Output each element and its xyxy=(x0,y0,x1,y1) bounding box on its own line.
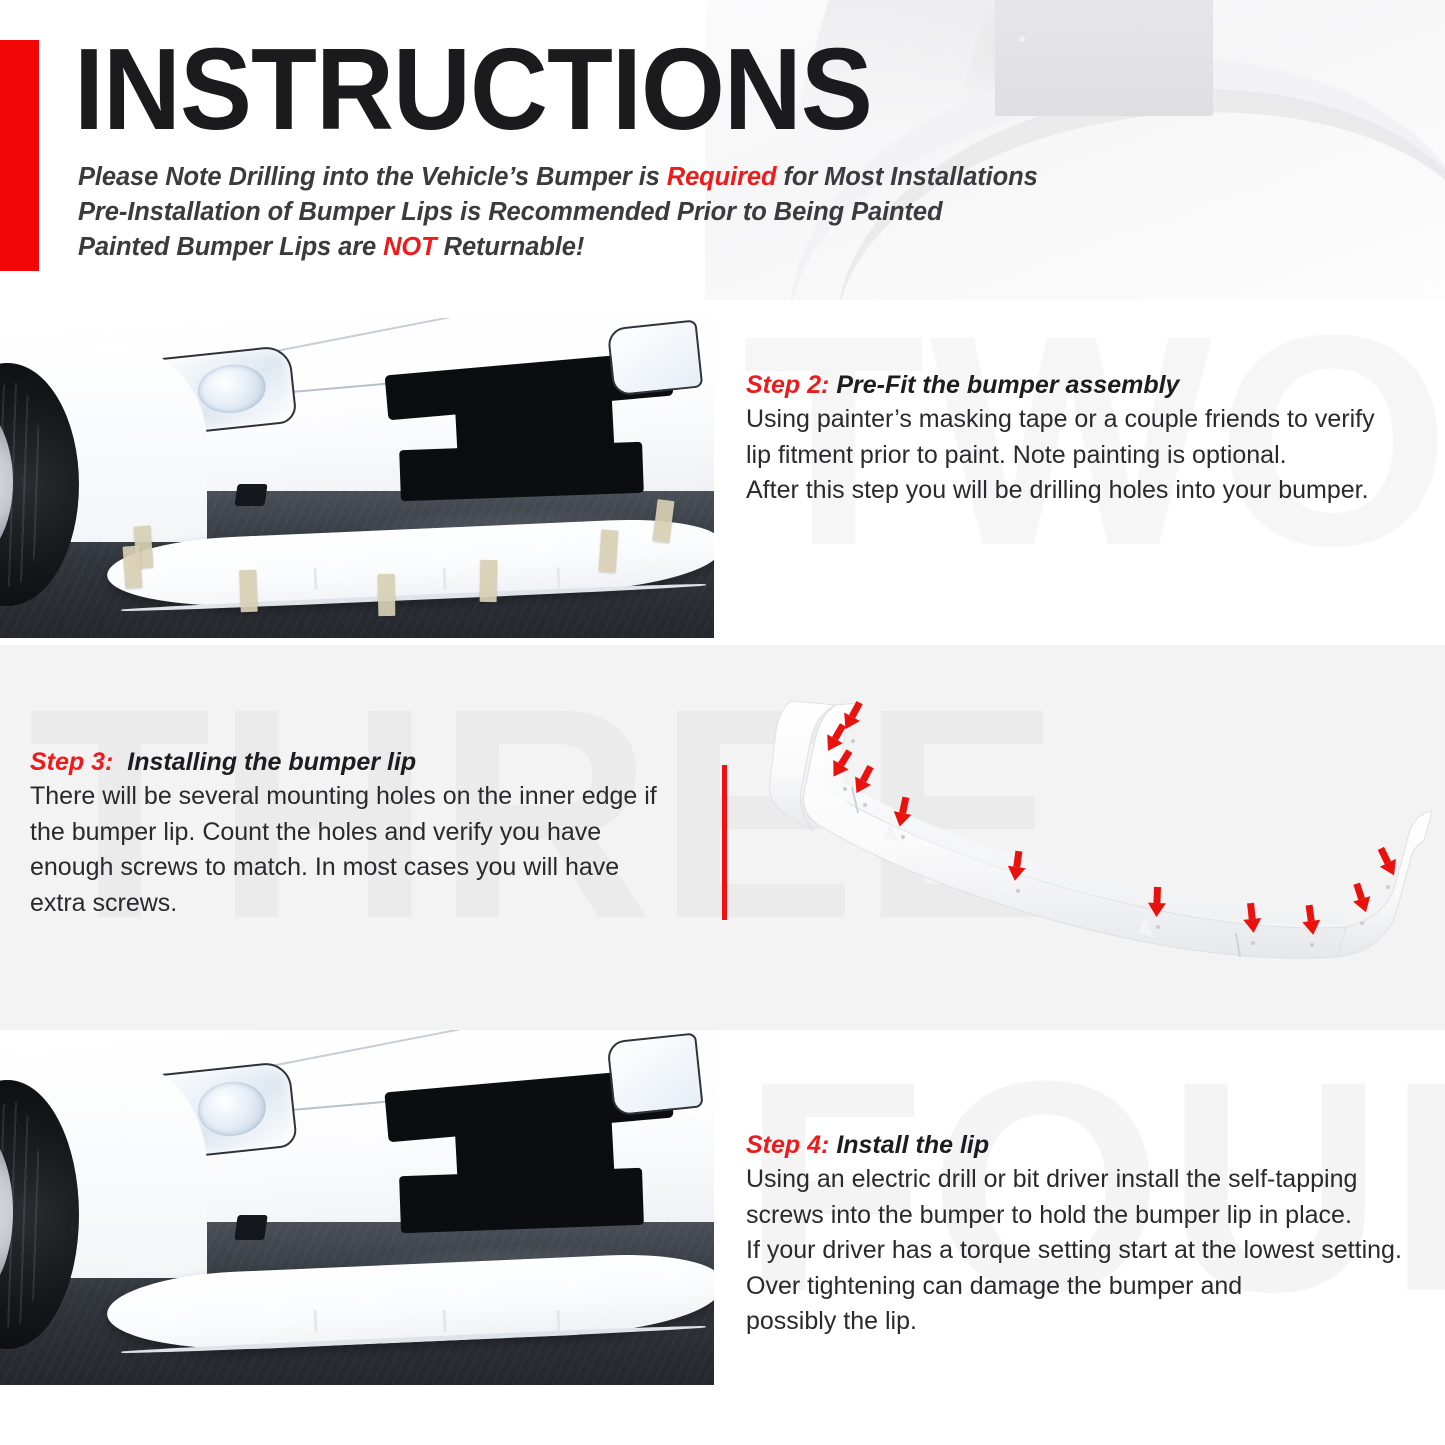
step-4-line-5: possibly the lip. xyxy=(746,1304,1445,1340)
step-3-title: Installing the bumper lip xyxy=(127,748,416,776)
step-2-line-2: lip fitment prior to paint. Note paintin… xyxy=(746,438,1445,474)
masking-tape-strip xyxy=(123,545,143,588)
step-2-photo xyxy=(0,318,714,638)
step-4-line-2: screws into the bumper to hold the bumpe… xyxy=(746,1198,1445,1234)
step-4-line-3: If your driver has a torque setting star… xyxy=(746,1233,1445,1269)
header-note-3-post: Returnable! xyxy=(437,233,585,261)
step-3-line-1: There will be several mounting holes on … xyxy=(30,779,720,815)
step-3-number: Step 3: xyxy=(30,748,113,776)
step-2-number: Step 2: xyxy=(746,371,829,399)
header-note-1-pre: Please Note Drilling into the Vehicle’s … xyxy=(78,163,667,191)
bumper-vent xyxy=(234,1215,267,1240)
step-4-heading: Step 4: Install the lip xyxy=(746,1128,1445,1162)
step-2-line-1: Using painter’s masking tape or a couple… xyxy=(746,402,1445,438)
step-3-heading: Step 3: Installing the bumper lip xyxy=(30,745,720,779)
header-photo-license-plate xyxy=(995,0,1213,116)
header-note-3-highlight: NOT xyxy=(383,233,437,261)
step-3-line-2: the bumper lip. Count the holes and veri… xyxy=(30,815,720,851)
step-4-photo xyxy=(0,1030,714,1385)
headlight-bulb xyxy=(195,1079,268,1140)
step-2-line-3: After this step you will be drilling hol… xyxy=(746,473,1445,509)
headlight-bulb xyxy=(195,361,267,416)
header-note-2: Pre-Installation of Bumper Lips is Recom… xyxy=(78,195,1378,230)
bumper-vent xyxy=(234,484,267,506)
step-4-line-4: Over tightening can damage the bumper an… xyxy=(746,1269,1445,1305)
header: INSTRUCTIONS Please Note Drilling into t… xyxy=(0,0,1445,300)
right-headlight xyxy=(606,1033,703,1117)
step-2-title: Pre-Fit the bumper assembly xyxy=(836,371,1179,399)
masking-tape-strip xyxy=(378,574,396,616)
header-notes: Please Note Drilling into the Vehicle’s … xyxy=(78,160,1378,265)
masking-tape-strip xyxy=(599,529,619,572)
step-2-heading: Step 2: Pre-Fit the bumper assembly xyxy=(746,368,1445,402)
step-4-line-1: Using an electric drill or bit driver in… xyxy=(746,1162,1445,1198)
step-4-row: FOUR Step 4: Install the lip Using an el… xyxy=(0,1030,1445,1445)
right-headlight xyxy=(607,320,703,397)
instruction-sheet: INSTRUCTIONS Please Note Drilling into t… xyxy=(0,0,1445,1445)
step-3-line-4: extra screws. xyxy=(30,886,720,922)
step-2-text: Step 2: Pre-Fit the bumper assembly Usin… xyxy=(746,368,1445,509)
header-note-1: Please Note Drilling into the Vehicle’s … xyxy=(78,160,1378,195)
step-3-divider xyxy=(722,765,727,920)
masking-tape-strip xyxy=(480,560,498,602)
step-3-body: There will be several mounting holes on … xyxy=(30,779,720,921)
step-4-text: Step 4: Install the lip Using an electri… xyxy=(746,1128,1445,1340)
step-3-lip-illustration xyxy=(740,665,1445,1010)
license-plate xyxy=(455,1118,617,1218)
header-note-3-pre: Painted Bumper Lips are xyxy=(78,233,383,261)
lip-fin xyxy=(442,1310,446,1332)
bumper-lip-svg xyxy=(740,665,1445,1010)
step-2-body: Using painter’s masking tape or a couple… xyxy=(746,402,1445,509)
tire-tread xyxy=(0,1101,44,1328)
header-note-3: Painted Bumper Lips are NOT Returnable! xyxy=(78,230,1378,265)
page-title: INSTRUCTIONS xyxy=(74,33,872,145)
lip-right-wing xyxy=(1338,811,1432,957)
step-3-line-3: enough screws to match. In most cases yo… xyxy=(30,850,720,886)
header-accent-bar xyxy=(0,40,39,271)
step-4-number: Step 4: xyxy=(746,1131,829,1159)
header-note-1-highlight: Required xyxy=(667,163,777,191)
license-plate xyxy=(455,397,616,488)
step-3-row: THREE Step 3: Installing the bumper lip … xyxy=(0,645,1445,1030)
header-note-2-pre: Pre-Installation of Bumper Lips is Recom… xyxy=(78,198,942,226)
step-2-row: TWO Step 2: Pre-Fit the bumper assembly … xyxy=(0,300,1445,645)
lip-fin xyxy=(442,568,446,590)
masking-tape-strip xyxy=(239,570,257,613)
step-4-title: Install the lip xyxy=(836,1131,989,1159)
header-note-1-post: for Most Installations xyxy=(776,163,1037,191)
step-4-body: Using an electric drill or bit driver in… xyxy=(746,1162,1445,1340)
step-3-text: Step 3: Installing the bumper lip There … xyxy=(30,745,720,921)
tire-tread xyxy=(0,382,44,586)
mounting-arrow xyxy=(1348,881,1374,915)
